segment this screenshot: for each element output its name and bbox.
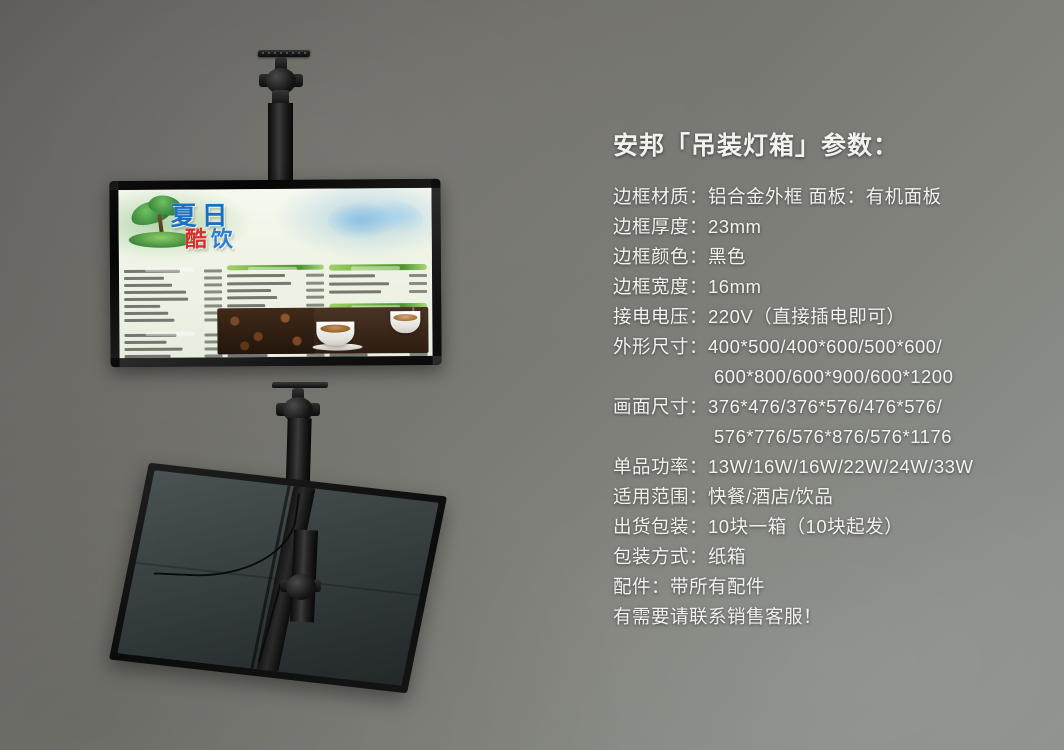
menu-item-price: [204, 276, 222, 279]
menu-item-name: [124, 341, 166, 344]
spec-line: 包装方式：纸箱: [613, 542, 1043, 572]
menu-item-price: [204, 283, 222, 286]
menu-row: [125, 347, 223, 351]
menu-item-price: [307, 296, 325, 299]
spec-line: 600*800/600*900/600*1200: [613, 362, 1043, 392]
menu-item-price: [409, 290, 427, 293]
menu-item-name: [124, 291, 186, 294]
rear-light-box: [109, 463, 447, 694]
coffee-cup-icon: [316, 321, 354, 345]
menu-item-name: [124, 312, 168, 315]
menu-row: [329, 282, 427, 286]
menu-item-name: [124, 284, 172, 287]
menu-item-name: [227, 289, 271, 292]
menu-poster: 夏 日 酷 饮: [118, 188, 432, 358]
menu-item-name: [124, 298, 188, 301]
menu-row: [227, 289, 325, 293]
menu-item-name: [124, 319, 174, 322]
menu-item-name: [125, 355, 171, 358]
poster-title-char: 夏: [171, 204, 197, 230]
menu-item-name: [227, 282, 291, 285]
menu-item-price: [307, 303, 325, 306]
menu-row: [124, 340, 222, 344]
menu-row: [227, 281, 325, 285]
menu-section-header: [227, 265, 325, 271]
menu-item-price: [306, 274, 324, 277]
coffee-photo: [217, 307, 428, 354]
menu-item-price: [409, 282, 427, 285]
menu-item-price: [409, 274, 427, 277]
menu-item-name: [227, 304, 265, 307]
menu-row: [124, 304, 222, 308]
spec-title: 安邦「吊装灯箱」参数：: [613, 126, 1043, 162]
menu-item-name: [227, 274, 285, 277]
spec-line: 外形尺寸：400*500/400*600/500*600/: [613, 332, 1043, 362]
spec-line: 画面尺寸：376*476/376*576/476*576/: [613, 392, 1043, 422]
mount-pivot-knuckle-bottom: [286, 574, 316, 600]
spec-line-list: 边框材质：铝合金外框 面板：有机面板边框厚度：23mm边框颜色：黑色边框宽度：1…: [613, 182, 1043, 632]
poster-title-char: 酷: [185, 229, 207, 251]
menu-row: [124, 276, 222, 280]
spec-line: 单品功率：13W/16W/16W/22W/24W/33W: [613, 452, 1043, 482]
specification-panel: 安邦「吊装灯箱」参数： 边框材质：铝合金外框 面板：有机面板边框厚度：23mm边…: [613, 126, 1043, 632]
menu-row: [124, 283, 222, 287]
coffee-beans-image: [217, 308, 314, 355]
menu-row: [227, 303, 325, 307]
menu-section-header: [124, 329, 222, 330]
menu-section-header: [329, 264, 427, 271]
spec-line: 边框颜色：黑色: [613, 242, 1043, 272]
menu-item-price: [410, 353, 428, 356]
menu-item-price: [204, 297, 222, 300]
poster-title-char: 日: [202, 203, 228, 229]
menu-row: [124, 318, 222, 322]
poster-title-char: 饮: [211, 229, 233, 251]
coffee-cup-icon: [390, 311, 420, 333]
rear-light-box-back-panel: [117, 470, 438, 685]
menu-item-name: [124, 305, 160, 308]
menu-item-name: [329, 275, 375, 278]
menu-item-name: [227, 354, 267, 357]
menu-row: [124, 290, 222, 294]
product-photo: 夏 日 酷 饮: [0, 0, 1064, 750]
menu-item-price: [306, 289, 324, 292]
spec-line: 边框宽度：16mm: [613, 272, 1043, 302]
spec-line: 接电电压：220V（直接插电即可）: [613, 302, 1043, 332]
menu-item-name: [329, 290, 381, 293]
menu-item-price: [204, 304, 222, 307]
poster-title-line2: 酷 饮: [185, 229, 233, 251]
spec-line: 边框材质：铝合金外框 面板：有机面板: [613, 182, 1043, 212]
light-box-panel: 夏 日 酷 饮: [118, 188, 432, 358]
menu-column: [124, 265, 222, 358]
menu-item-name: [125, 348, 183, 351]
menu-item-price: [306, 281, 324, 284]
menu-row: [124, 297, 222, 301]
ceiling-plate-icon: [258, 50, 311, 57]
menu-item-name: [227, 296, 277, 299]
spec-line: 576*776/576*876/576*1176: [613, 422, 1043, 452]
menu-row: [227, 274, 325, 278]
menu-row: [329, 289, 427, 293]
menu-row: [124, 311, 222, 315]
poster-title-line1: 夏 日: [171, 203, 228, 229]
menu-row: [227, 296, 325, 300]
spec-line: 适用范围：快餐/酒店/饮品: [613, 482, 1043, 512]
menu-item-price: [204, 269, 222, 272]
mount-pole-upper: [268, 103, 293, 185]
menu-section-header: [124, 265, 222, 266]
menu-item-name: [124, 277, 164, 280]
spec-line: 边框厚度：23mm: [613, 212, 1043, 242]
menu-row: [329, 274, 427, 278]
menu-item-name: [329, 282, 389, 285]
spec-line: 出货包装：10块一箱（10块起发）: [613, 512, 1043, 542]
menu-item-price: [204, 290, 222, 293]
menu-item-price: [204, 354, 222, 357]
menu-light-box: 夏 日 酷 饮: [109, 179, 441, 367]
spec-line: 配件：带所有配件: [613, 572, 1043, 602]
spec-line: 有需要请联系销售客服！: [613, 602, 1043, 632]
menu-item-price: [307, 353, 325, 356]
